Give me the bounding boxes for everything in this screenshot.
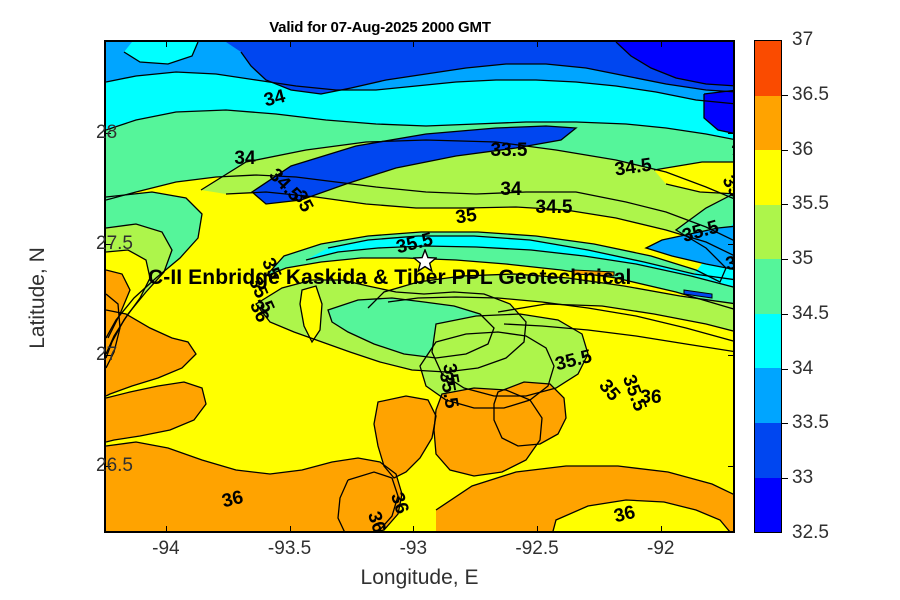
colorbar-band bbox=[755, 368, 781, 423]
colorbar-tick bbox=[782, 423, 788, 424]
colorbar-tick-label: 33.5 bbox=[792, 412, 829, 434]
star-marker-icon bbox=[413, 249, 437, 273]
colorbar-tick-label: 34.5 bbox=[792, 303, 829, 325]
page-title: Valid for 07-Aug-2025 2000 GMT bbox=[0, 19, 760, 36]
x-tick bbox=[661, 526, 662, 533]
y-axis-label: Latitude, N bbox=[26, 198, 50, 398]
x-tick-top bbox=[166, 40, 167, 47]
colorbar-band bbox=[755, 150, 781, 205]
colorbar-tick-label: 32.5 bbox=[792, 522, 829, 544]
y-tick-right bbox=[728, 133, 735, 134]
colorbar-tick bbox=[782, 150, 788, 151]
contour-label: 34 bbox=[500, 179, 522, 200]
colorbar-band bbox=[755, 41, 781, 96]
x-tick bbox=[290, 526, 291, 533]
colorbar-tick bbox=[782, 478, 788, 479]
colorbar-tick bbox=[782, 314, 788, 315]
x-tick-label: -93 bbox=[400, 538, 427, 560]
colorbar-band bbox=[755, 478, 781, 533]
contour-label: 35 bbox=[454, 205, 478, 229]
x-tick-top bbox=[290, 40, 291, 47]
x-tick-top bbox=[413, 40, 414, 47]
x-tick-label: -92.5 bbox=[515, 538, 558, 560]
site-annotation-label: C-II Enbridge Kaskida & Tiber PPL Geotec… bbox=[148, 266, 631, 290]
contour-label: 33.5 bbox=[491, 140, 528, 161]
x-tick bbox=[166, 526, 167, 533]
contour-label: 36 bbox=[640, 387, 661, 408]
contour-label: 34 bbox=[234, 148, 256, 169]
colorbar-tick bbox=[782, 369, 788, 370]
x-tick bbox=[537, 526, 538, 533]
x-tick-top bbox=[537, 40, 538, 47]
colorbar-tick-label: 37 bbox=[792, 29, 813, 51]
colorbar-tick bbox=[782, 95, 788, 96]
colorbar bbox=[754, 40, 782, 533]
x-tick bbox=[413, 526, 414, 533]
colorbar-tick-label: 34 bbox=[792, 358, 813, 380]
x-axis-label: Longitude, E bbox=[104, 566, 735, 590]
colorbar-band bbox=[755, 259, 781, 314]
colorbar-tick bbox=[782, 259, 788, 260]
colorbar-band bbox=[755, 314, 781, 369]
colorbar-tick-label: 36 bbox=[792, 139, 813, 161]
x-tick-label: -92 bbox=[647, 538, 674, 560]
y-tick-right bbox=[728, 244, 735, 245]
y-tick-right bbox=[728, 355, 735, 356]
colorbar-tick-label: 33 bbox=[792, 467, 813, 489]
colorbar-band bbox=[755, 205, 781, 260]
colorbar-band bbox=[755, 423, 781, 478]
y-tick-right bbox=[728, 466, 735, 467]
x-tick-label: -94 bbox=[152, 538, 179, 560]
colorbar-tick-label: 36.5 bbox=[792, 84, 829, 106]
contour-label: 34.5 bbox=[536, 197, 573, 218]
colorbar-tick-label: 35.5 bbox=[792, 193, 829, 215]
colorbar-tick bbox=[782, 204, 788, 205]
x-tick-top bbox=[661, 40, 662, 47]
colorbar-tick-label: 35 bbox=[792, 248, 813, 270]
x-tick-label: -93.5 bbox=[268, 538, 311, 560]
colorbar-band bbox=[755, 96, 781, 151]
